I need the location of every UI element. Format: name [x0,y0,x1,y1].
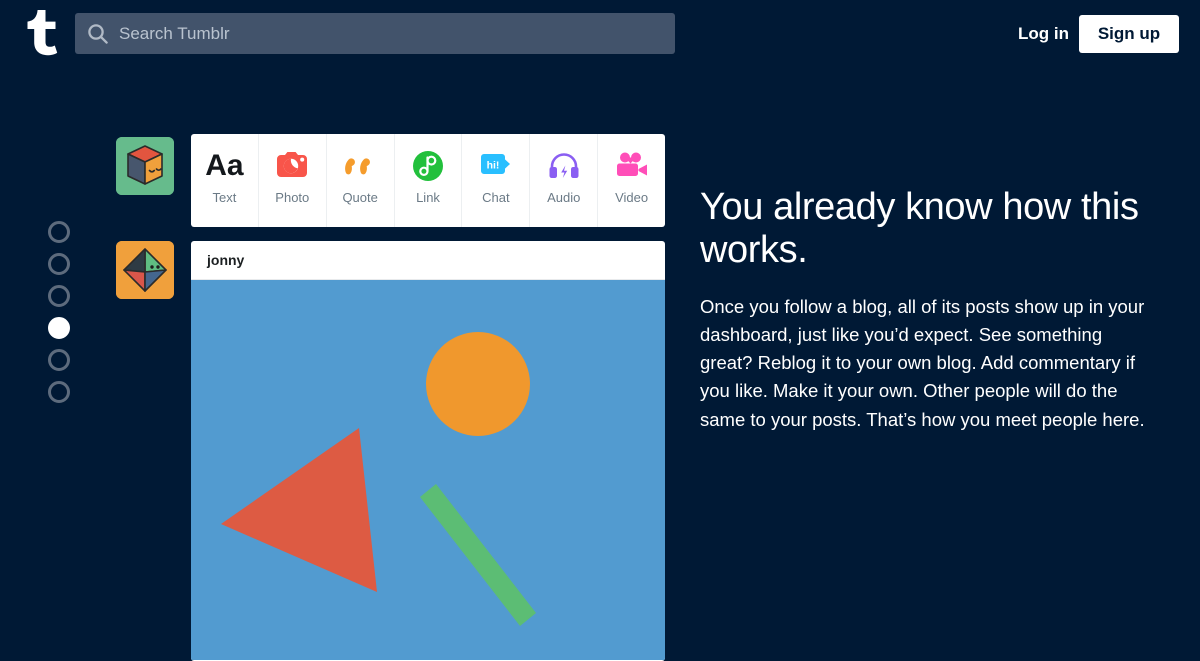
signup-button[interactable]: Sign up [1079,15,1179,53]
text-icon: Aa [205,147,243,185]
post-type-photo[interactable]: Photo [259,134,327,227]
post-type-quote[interactable]: Quote [327,134,395,227]
post-header: jonny [191,241,665,280]
post-type-label-chat: Chat [482,190,509,205]
text-icon-glyph: Aa [205,151,243,181]
hero-title: You already know how this works. [700,186,1150,271]
top-navigation-bar: Log in Sign up [0,0,1200,68]
search-bar[interactable] [75,13,675,54]
post-type-label-audio: Audio [547,190,580,205]
quote-icon [343,147,377,185]
avatar-diamond[interactable] [116,241,174,299]
diamond-avatar-icon [116,241,174,299]
link-icon [412,147,444,185]
post-type-label-quote: Quote [342,190,377,205]
post-type-toolbar: Aa Text Photo Quote [191,134,665,227]
post-type-label-video: Video [615,190,648,205]
carousel-dot-2[interactable] [48,253,70,275]
carousel-dot-5[interactable] [48,349,70,371]
cube-avatar-icon [116,137,174,195]
chat-icon-glyph: hi! [486,160,499,172]
post-type-link[interactable]: Link [395,134,463,227]
search-icon [87,23,109,45]
post-type-label-photo: Photo [275,190,309,205]
post-type-label-link: Link [416,190,440,205]
post-image-background [191,280,665,660]
carousel-dot-1[interactable] [48,221,70,243]
carousel-dot-6[interactable] [48,381,70,403]
post-image[interactable] [191,280,665,660]
hero-section: You already know how this works. Once yo… [700,186,1150,434]
post-username[interactable]: jonny [207,252,244,268]
chat-icon: hi! [478,147,514,185]
post-card: jonny [191,241,665,661]
post-type-text[interactable]: Aa Text [191,134,259,227]
avatar-cube[interactable] [116,137,174,195]
audio-icon [547,147,581,185]
carousel-dot-4[interactable] [48,317,70,339]
photo-icon [275,147,309,185]
carousel-dot-3[interactable] [48,285,70,307]
video-icon [614,147,650,185]
post-type-video[interactable]: Video [598,134,665,227]
tumblr-logo-icon [22,8,62,58]
login-button[interactable]: Log in [1012,20,1075,48]
post-type-label-text: Text [213,190,237,205]
post-type-audio[interactable]: Audio [530,134,598,227]
carousel-dots [48,221,72,413]
post-type-chat[interactable]: hi! Chat [462,134,530,227]
orange-circle [426,332,530,436]
hero-body: Once you follow a blog, all of its posts… [700,293,1150,434]
tumblr-logo[interactable] [22,8,62,58]
search-input[interactable] [119,13,675,54]
